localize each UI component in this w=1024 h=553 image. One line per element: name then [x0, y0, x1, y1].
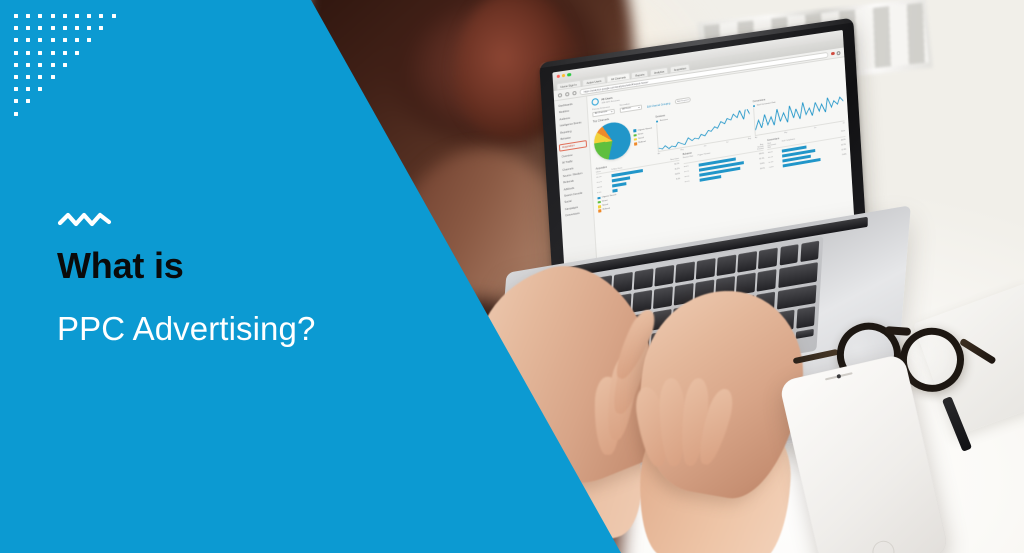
segment-ring-icon — [591, 98, 599, 106]
row-metric: 31.2% — [671, 168, 680, 172]
dot — [63, 63, 67, 67]
conversions-table: Conversions Goal Conversion Rate Goal Co… — [767, 127, 847, 183]
tick-label: Jun — [704, 145, 707, 147]
dot — [51, 38, 55, 42]
page-subtitle: PPC Advertising? — [57, 312, 315, 345]
zigzag-wave-icon — [57, 209, 113, 231]
phone-home-button[interactable] — [870, 539, 896, 553]
row-value: 70.8% — [769, 165, 782, 169]
chevron-down-icon — [638, 107, 640, 108]
dot — [14, 38, 18, 42]
dot — [38, 87, 42, 91]
legend-swatch — [634, 142, 637, 145]
dot — [26, 14, 30, 18]
dot — [26, 75, 30, 79]
dot — [112, 14, 116, 18]
dot — [75, 38, 79, 42]
urlbar-actions — [831, 50, 840, 55]
page-title: What is — [57, 248, 184, 284]
record-icon[interactable] — [831, 52, 835, 56]
minimize-icon[interactable] — [562, 74, 565, 78]
tick-label: May — [784, 131, 787, 133]
glasses-bridge — [885, 326, 911, 336]
dot — [26, 87, 30, 91]
row-metric: 68.4% — [755, 153, 764, 156]
dot — [63, 51, 67, 55]
sidebar-item-conversions[interactable]: Conversions — [563, 210, 591, 218]
acquisition-table: Acquisition Users % New Users New Users … — [596, 154, 682, 212]
dot — [75, 14, 79, 18]
dot — [38, 51, 42, 55]
dot — [14, 51, 18, 55]
column-header[interactable]: Avg. Session Duration — [755, 143, 764, 150]
primary-dimension-filter: Primary Dimension All Channels — [592, 106, 615, 118]
filter-value: All Channels — [595, 110, 608, 117]
row-metric: 52.3% — [838, 149, 846, 152]
dot — [38, 14, 42, 18]
gear-icon[interactable] — [836, 50, 840, 54]
tick-label: Apr — [658, 152, 661, 154]
reload-icon[interactable] — [572, 90, 576, 95]
dot — [51, 14, 55, 18]
sidebar-item-acquisition-selected[interactable]: Acquisition — [559, 140, 587, 152]
dot — [14, 99, 18, 103]
forward-icon[interactable] — [565, 91, 569, 96]
dot — [63, 26, 67, 30]
dot — [26, 99, 30, 103]
dot — [75, 51, 79, 55]
dot — [26, 51, 30, 55]
legend-swatch — [598, 209, 601, 212]
dot — [51, 75, 55, 79]
tick-label: Aug — [748, 137, 751, 139]
ppc-advertising-banner: Home Sign In Active Users All Channels R… — [0, 0, 1024, 553]
tick-label: Jun — [814, 127, 817, 129]
row-metric: 61.5% — [838, 144, 846, 147]
legend-swatch — [634, 138, 637, 141]
row-metric: 24.8% — [671, 173, 680, 177]
dot — [26, 63, 30, 67]
dot — [75, 26, 79, 30]
legend-swatch — [633, 129, 636, 132]
dot — [14, 112, 18, 116]
triangular-dot-grid-icon — [14, 14, 144, 144]
legend-swatch — [634, 134, 637, 137]
dot — [63, 14, 67, 18]
dot — [26, 38, 30, 42]
chevron-down-icon — [610, 111, 612, 112]
tick-label: Jul — [843, 122, 845, 124]
dot — [99, 26, 103, 30]
dot — [38, 26, 42, 30]
row-metric: 54.1% — [670, 163, 679, 167]
row-metric: 46.0% — [837, 139, 845, 142]
dot — [99, 14, 103, 18]
dot — [87, 38, 91, 42]
dot — [14, 14, 18, 18]
secondary-filter: Secondary All Users — [619, 101, 642, 113]
behavior-table: Behavior Bounce Rate Pages / Session Avg… — [683, 140, 766, 197]
column-header[interactable]: Goal Conversion Rate — [767, 141, 780, 149]
dot — [51, 51, 55, 55]
dot — [26, 26, 30, 30]
column-header[interactable]: Bounce Rate — [683, 155, 696, 163]
row-metric: 39.2% — [756, 168, 765, 171]
row-metric: 82.1% — [756, 158, 765, 161]
dot — [87, 14, 91, 18]
phone-camera-icon — [836, 374, 841, 379]
column-header[interactable]: New Users — [670, 157, 679, 161]
row-metric: 74.6% — [756, 163, 765, 166]
tick-label: Apr — [755, 136, 758, 138]
column-header[interactable]: Value — [837, 130, 846, 137]
legend-label: Social — [638, 137, 644, 140]
pie-legend: Organic Search Direct Soci — [633, 127, 653, 145]
filter-value: All Users — [622, 106, 631, 112]
legend-swatch — [598, 205, 601, 208]
legend-label: Social — [602, 204, 608, 207]
dot — [38, 75, 42, 79]
tick-label: Jul — [726, 141, 728, 143]
legend-label: Referral — [602, 208, 610, 211]
dot — [14, 26, 18, 30]
legend-label: Direct — [638, 133, 644, 136]
dot — [14, 63, 18, 67]
pie-chart[interactable] — [593, 120, 632, 163]
legend-swatch — [598, 201, 601, 204]
report-header-text: All Users 100.00% Sessions — [601, 95, 620, 105]
dot — [51, 26, 55, 30]
dot — [38, 38, 42, 42]
tick-label: May — [680, 149, 683, 152]
dot — [63, 38, 67, 42]
legend-label: Referral — [638, 141, 646, 144]
row-metric: 70.8% — [838, 154, 846, 157]
row-metric: 8.3% — [671, 178, 680, 182]
pie-chart-block: Organic Search Direct Soci — [593, 116, 654, 162]
row-value: 39.2% — [684, 179, 697, 183]
dot — [87, 26, 91, 30]
add-segment-button[interactable]: Add Segment — [675, 97, 691, 105]
dot — [14, 75, 18, 79]
dot — [38, 63, 42, 67]
maximize-icon[interactable] — [567, 73, 570, 77]
dot — [14, 87, 18, 91]
back-icon[interactable] — [558, 92, 562, 97]
legend-label: Direct — [602, 200, 608, 203]
dot — [51, 63, 55, 67]
legend-swatch — [597, 196, 600, 199]
close-icon[interactable] — [557, 74, 561, 78]
